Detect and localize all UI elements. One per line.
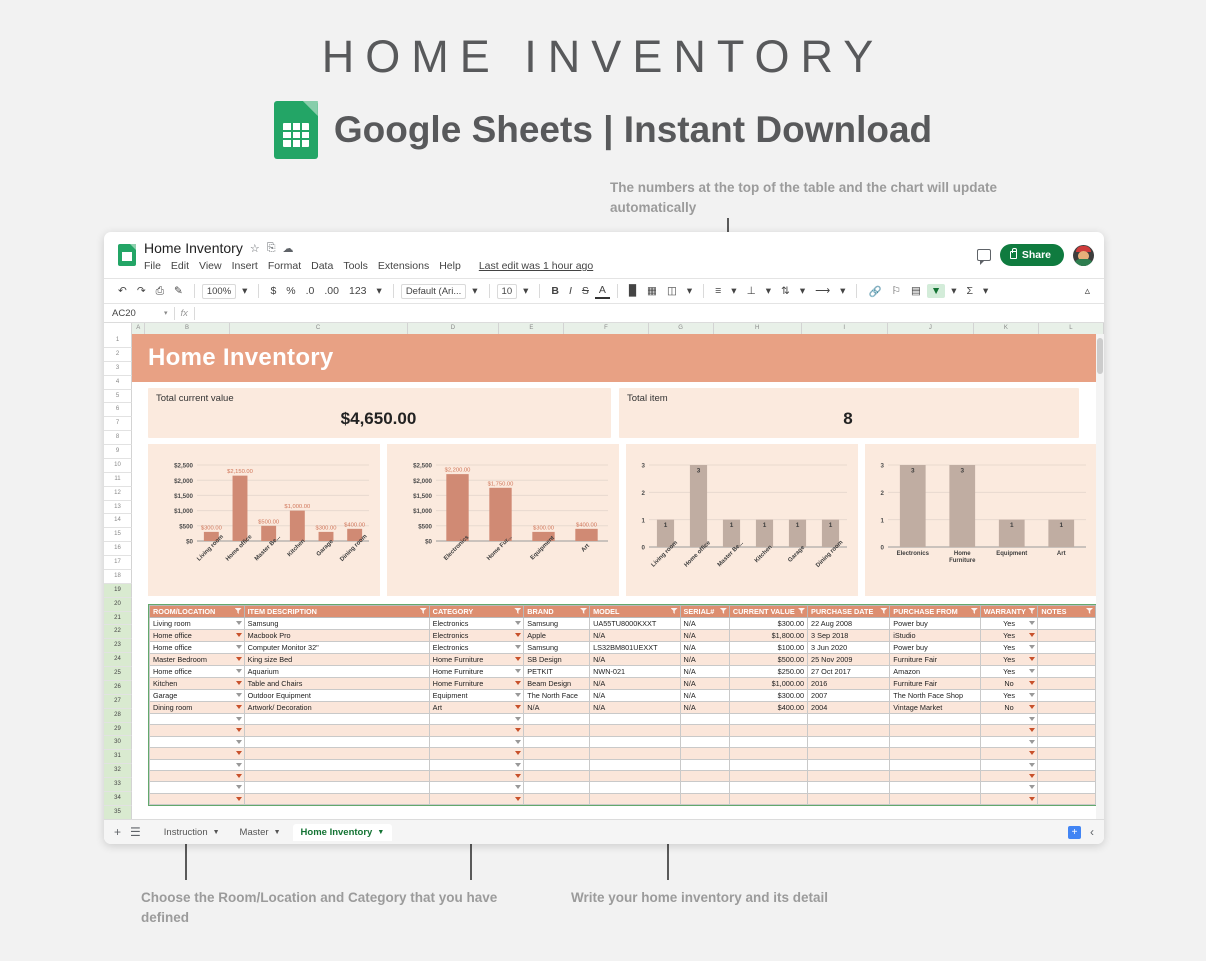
chevron-left-icon[interactable]: ‹ (1090, 825, 1094, 839)
row-header-1[interactable]: 1 (104, 334, 132, 348)
cell-notes[interactable] (1038, 702, 1096, 714)
cell-room-location[interactable]: Home office (150, 630, 245, 642)
cell-empty[interactable] (429, 770, 524, 781)
chevron-down-icon[interactable]: ▼ (377, 829, 384, 836)
cell-empty[interactable] (808, 770, 890, 781)
dropdown-chevron-down-icon[interactable] (236, 633, 242, 637)
column-header-g[interactable]: G (649, 323, 714, 334)
cell-empty[interactable] (729, 725, 807, 736)
cell-notes[interactable] (1038, 678, 1096, 690)
cell-room-location[interactable]: Home office (150, 666, 245, 678)
cell-warranty[interactable]: Yes (980, 630, 1038, 642)
column-header-l[interactable]: L (1039, 323, 1104, 334)
column-header-h[interactable]: H (714, 323, 802, 334)
cell-model[interactable]: N/A (590, 702, 680, 714)
menu-view[interactable]: View (199, 260, 222, 272)
dropdown-chevron-down-icon[interactable] (1029, 633, 1035, 637)
table-header-purchase-date[interactable]: PURCHASE DATE (808, 606, 890, 618)
name-box[interactable]: AC20 (104, 308, 164, 319)
cell-category[interactable]: Electronics (429, 630, 524, 642)
table-row[interactable] (150, 782, 1096, 793)
row-header-30[interactable]: 30 (104, 736, 132, 750)
cell-empty[interactable] (808, 782, 890, 793)
cell-empty[interactable] (244, 770, 429, 781)
filter-icon[interactable]: ▼ (927, 284, 945, 298)
cell-empty[interactable] (808, 736, 890, 747)
cell-notes[interactable] (1038, 654, 1096, 666)
cell-empty[interactable] (429, 782, 524, 793)
cell-empty[interactable] (680, 782, 729, 793)
dropdown-chevron-down-icon[interactable] (515, 621, 521, 625)
cell-serial[interactable]: N/A (680, 702, 729, 714)
row-header-31[interactable]: 31 (104, 750, 132, 764)
filter-icon[interactable] (798, 608, 805, 614)
cell-item-description[interactable]: Aquarium (244, 666, 429, 678)
cell-empty[interactable] (980, 759, 1038, 770)
menu-data[interactable]: Data (311, 260, 333, 272)
cell-warranty[interactable]: Yes (980, 618, 1038, 630)
cell-empty[interactable] (808, 748, 890, 759)
table-row[interactable]: GarageOutdoor EquipmentEquipmentThe Nort… (150, 690, 1096, 702)
cell-empty[interactable] (590, 748, 680, 759)
dropdown-chevron-down-icon[interactable] (515, 693, 521, 697)
cell-empty[interactable] (680, 748, 729, 759)
cell-empty[interactable] (590, 714, 680, 725)
dropdown-chevron-down-icon[interactable] (1029, 728, 1035, 732)
dropdown-chevron-down-icon[interactable] (515, 728, 521, 732)
cell-empty[interactable] (1038, 736, 1096, 747)
chevron-down-icon[interactable]: ▼ (274, 829, 281, 836)
cell-empty[interactable] (680, 736, 729, 747)
cell-purchase-from[interactable]: Amazon (890, 666, 980, 678)
table-header-brand[interactable]: BRAND (524, 606, 590, 618)
cell-brand[interactable]: PETKIT (524, 666, 590, 678)
cell-room-location[interactable]: Garage (150, 690, 245, 702)
table-header-category[interactable]: CATEGORY (429, 606, 524, 618)
cell-empty[interactable] (980, 748, 1038, 759)
dropdown-chevron-down-icon[interactable] (515, 705, 521, 709)
insert-chart-icon[interactable]: ▤ (907, 284, 925, 298)
cell-empty[interactable] (980, 793, 1038, 804)
formats-chevron-down-icon[interactable]: ▾ (373, 284, 386, 298)
cell-empty[interactable] (1038, 793, 1096, 804)
table-row[interactable] (150, 793, 1096, 804)
cell-serial[interactable]: N/A (680, 630, 729, 642)
cell-category[interactable]: Home Furniture (429, 666, 524, 678)
more-formats-button[interactable]: 123 (345, 284, 371, 298)
halign-chevron-down-icon[interactable]: ▾ (727, 284, 740, 298)
cell-empty[interactable] (890, 793, 980, 804)
dropdown-chevron-down-icon[interactable] (1029, 785, 1035, 789)
cell-empty[interactable] (244, 736, 429, 747)
cell-warranty[interactable]: Yes (980, 690, 1038, 702)
cell-empty[interactable] (524, 770, 590, 781)
cell-room-location[interactable]: Home office (150, 642, 245, 654)
cell-empty[interactable] (1038, 714, 1096, 725)
cell-empty[interactable] (590, 759, 680, 770)
row-header-24[interactable]: 24 (104, 653, 132, 667)
add-sheet-icon[interactable]: + (114, 825, 121, 839)
cell-item-description[interactable]: Macbook Pro (244, 630, 429, 642)
dropdown-chevron-down-icon[interactable] (236, 740, 242, 744)
row-header-9[interactable]: 9 (104, 445, 132, 459)
dropdown-chevron-down-icon[interactable] (515, 645, 521, 649)
vertical-align-icon[interactable]: ⊥ (743, 284, 760, 298)
cell-category[interactable]: Electronics (429, 618, 524, 630)
cell-model[interactable]: LS32BM801UEXXT (590, 642, 680, 654)
vertical-scrollbar[interactable] (1096, 334, 1104, 819)
cell-brand[interactable]: SB Design (524, 654, 590, 666)
dropdown-chevron-down-icon[interactable] (236, 751, 242, 755)
wrap-chevron-down-icon[interactable]: ▾ (796, 284, 809, 298)
cell-empty[interactable] (729, 770, 807, 781)
cell-item-description[interactable]: King size Bed (244, 654, 429, 666)
cell-empty[interactable] (150, 759, 245, 770)
decrease-decimal-button[interactable]: .0 (302, 284, 319, 298)
cell-empty[interactable] (244, 714, 429, 725)
filter-icon[interactable] (880, 608, 887, 614)
cell-current-value[interactable]: $1,800.00 (729, 630, 807, 642)
dropdown-chevron-down-icon[interactable] (515, 681, 521, 685)
row-header-27[interactable]: 27 (104, 695, 132, 709)
cell-current-value[interactable]: $100.00 (729, 642, 807, 654)
dropdown-chevron-down-icon[interactable] (236, 705, 242, 709)
cell-empty[interactable] (244, 748, 429, 759)
cell-current-value[interactable]: $300.00 (729, 690, 807, 702)
dropdown-chevron-down-icon[interactable] (1029, 797, 1035, 801)
filter-icon[interactable] (671, 608, 678, 614)
column-header-c[interactable]: C (230, 323, 408, 334)
row-header-34[interactable]: 34 (104, 792, 132, 806)
cell-purchase-date[interactable]: 2016 (808, 678, 890, 690)
cell-purchase-from[interactable]: iStudio (890, 630, 980, 642)
column-header-i[interactable]: I (802, 323, 888, 334)
cell-model[interactable]: N/A (590, 654, 680, 666)
cell-serial[interactable]: N/A (680, 678, 729, 690)
dropdown-chevron-down-icon[interactable] (1029, 774, 1035, 778)
cell-empty[interactable] (590, 725, 680, 736)
cell-empty[interactable] (890, 714, 980, 725)
filter-icon[interactable] (514, 608, 521, 614)
row-header-11[interactable]: 11 (104, 473, 132, 487)
row-header-7[interactable]: 7 (104, 417, 132, 431)
cell-purchase-date[interactable]: 22 Aug 2008 (808, 618, 890, 630)
row-header-32[interactable]: 32 (104, 764, 132, 778)
cell-empty[interactable] (150, 748, 245, 759)
column-header-a[interactable]: A (132, 323, 145, 334)
cell-empty[interactable] (150, 725, 245, 736)
dropdown-chevron-down-icon[interactable] (515, 669, 521, 673)
cell-empty[interactable] (150, 714, 245, 725)
row-header-8[interactable]: 8 (104, 431, 132, 445)
cell-notes[interactable] (1038, 630, 1096, 642)
row-header-14[interactable]: 14 (104, 514, 132, 528)
filter-icon[interactable] (720, 608, 727, 614)
scrollbar-thumb[interactable] (1097, 338, 1103, 374)
cell-room-location[interactable]: Kitchen (150, 678, 245, 690)
dropdown-chevron-down-icon[interactable] (236, 645, 242, 649)
cell-empty[interactable] (429, 714, 524, 725)
row-header-21[interactable]: 21 (104, 612, 132, 626)
row-header-10[interactable]: 10 (104, 459, 132, 473)
cell-empty[interactable] (150, 736, 245, 747)
undo-icon[interactable]: ↶ (114, 284, 131, 298)
row-header-4[interactable]: 4 (104, 376, 132, 390)
currency-format-button[interactable]: $ (266, 284, 280, 298)
cell-empty[interactable] (729, 782, 807, 793)
cell-purchase-from[interactable]: Furniture Fair (890, 654, 980, 666)
cell-purchase-date[interactable]: 3 Jun 2020 (808, 642, 890, 654)
cell-brand[interactable]: The North Face (524, 690, 590, 702)
filter-icon[interactable] (235, 608, 242, 614)
cell-empty[interactable] (1038, 725, 1096, 736)
chart-3[interactable]: 01231Living room3Home office1Master Be..… (626, 444, 858, 596)
cell-purchase-from[interactable]: Vintage Market (890, 702, 980, 714)
dropdown-chevron-down-icon[interactable] (515, 751, 521, 755)
cell-empty[interactable] (729, 759, 807, 770)
filter-icon[interactable] (420, 608, 427, 614)
table-row[interactable]: Home officeAquariumHome FurniturePETKITN… (150, 666, 1096, 678)
valign-chevron-down-icon[interactable]: ▾ (762, 284, 775, 298)
zoom-select[interactable]: 100% (202, 284, 236, 299)
font-size-chevron-down-icon[interactable]: ▾ (519, 284, 532, 298)
cell-notes[interactable] (1038, 642, 1096, 654)
dropdown-chevron-down-icon[interactable] (515, 774, 521, 778)
dropdown-chevron-down-icon[interactable] (236, 693, 242, 697)
menu-tools[interactable]: Tools (343, 260, 368, 272)
table-header-current-value[interactable]: CURRENT VALUE (729, 606, 807, 618)
table-row[interactable]: Dining roomArtwork/ DecorationArtN/AN/AN… (150, 702, 1096, 714)
cell-model[interactable]: N/A (590, 630, 680, 642)
row-header-22[interactable]: 22 (104, 625, 132, 639)
dropdown-chevron-down-icon[interactable] (236, 728, 242, 732)
cell-empty[interactable] (524, 748, 590, 759)
filter-icon[interactable] (580, 608, 587, 614)
column-header-k[interactable]: K (974, 323, 1039, 334)
table-header-room-location[interactable]: ROOM/LOCATION (150, 606, 245, 618)
cell-empty[interactable] (680, 725, 729, 736)
menu-insert[interactable]: Insert (232, 260, 258, 272)
text-wrap-icon[interactable]: ⇅ (777, 284, 794, 298)
text-color-button[interactable]: A (595, 283, 610, 299)
dropdown-chevron-down-icon[interactable] (1029, 717, 1035, 721)
column-header-e[interactable]: E (499, 323, 564, 334)
dropdown-chevron-down-icon[interactable] (515, 657, 521, 661)
cell-warranty[interactable]: Yes (980, 666, 1038, 678)
cell-brand[interactable]: Samsung (524, 618, 590, 630)
cell-serial[interactable]: N/A (680, 690, 729, 702)
dropdown-chevron-down-icon[interactable] (1029, 669, 1035, 673)
cell-empty[interactable] (590, 770, 680, 781)
cell-empty[interactable] (150, 770, 245, 781)
table-row[interactable] (150, 759, 1096, 770)
insert-link-icon[interactable]: 🔗 (864, 284, 885, 299)
cell-model[interactable]: NWN-021 (590, 666, 680, 678)
name-box-chevron-down-icon[interactable]: ▾ (164, 309, 168, 317)
cell-empty[interactable] (680, 793, 729, 804)
cell-model[interactable]: UA55TU8000KXXT (590, 618, 680, 630)
table-row[interactable] (150, 748, 1096, 759)
row-header-35[interactable]: 35 (104, 806, 132, 819)
dropdown-chevron-down-icon[interactable] (236, 785, 242, 789)
row-header-20[interactable]: 20 (104, 598, 132, 612)
redo-icon[interactable]: ↷ (133, 284, 150, 298)
filter-icon[interactable] (1086, 608, 1093, 614)
table-header-warranty[interactable]: WARRANTY (980, 606, 1038, 618)
row-header-19[interactable]: 19 (104, 584, 132, 598)
dropdown-chevron-down-icon[interactable] (1029, 657, 1035, 661)
table-header-notes[interactable]: NOTES (1038, 606, 1096, 618)
row-header-5[interactable]: 5 (104, 390, 132, 404)
row-header-12[interactable]: 12 (104, 487, 132, 501)
italic-button[interactable]: I (565, 284, 576, 298)
cell-empty[interactable] (244, 782, 429, 793)
cell-room-location[interactable]: Living room (150, 618, 245, 630)
cell-warranty[interactable]: No (980, 702, 1038, 714)
font-chevron-down-icon[interactable]: ▾ (468, 284, 481, 298)
row-header-15[interactable]: 15 (104, 528, 132, 542)
dropdown-chevron-down-icon[interactable] (236, 657, 242, 661)
cell-warranty[interactable]: No (980, 678, 1038, 690)
row-header-3[interactable]: 3 (104, 362, 132, 376)
row-header-2[interactable]: 2 (104, 348, 132, 362)
filter-icon[interactable] (971, 608, 978, 614)
cell-brand[interactable]: Samsung (524, 642, 590, 654)
dropdown-chevron-down-icon[interactable] (1029, 621, 1035, 625)
cell-empty[interactable] (890, 770, 980, 781)
cell-category[interactable]: Equipment (429, 690, 524, 702)
row-header-29[interactable]: 29 (104, 723, 132, 737)
row-header-26[interactable]: 26 (104, 681, 132, 695)
dropdown-chevron-down-icon[interactable] (236, 681, 242, 685)
cell-purchase-date[interactable]: 27 Oct 2017 (808, 666, 890, 678)
column-header-f[interactable]: F (564, 323, 648, 334)
cell-empty[interactable] (729, 793, 807, 804)
borders-icon[interactable]: ▦ (643, 284, 661, 298)
cell-purchase-from[interactable]: Furniture Fair (890, 678, 980, 690)
font-size-select[interactable]: 10 (497, 284, 518, 299)
dropdown-chevron-down-icon[interactable] (1029, 763, 1035, 767)
dropdown-chevron-down-icon[interactable] (236, 774, 242, 778)
cell-empty[interactable] (429, 725, 524, 736)
cell-empty[interactable] (590, 736, 680, 747)
text-rotation-icon[interactable]: ⟶ (811, 284, 834, 298)
share-button[interactable]: Share (1000, 244, 1064, 266)
avatar[interactable] (1073, 245, 1094, 266)
cell-empty[interactable] (890, 759, 980, 770)
paint-format-icon[interactable]: ✎ (170, 284, 187, 298)
cell-item-description[interactable]: Outdoor Equipment (244, 690, 429, 702)
dropdown-chevron-down-icon[interactable] (515, 785, 521, 789)
cell-purchase-from[interactable]: Power buy (890, 642, 980, 654)
cell-empty[interactable] (244, 725, 429, 736)
insert-comment-icon[interactable]: ⚐ (888, 284, 905, 298)
cell-purchase-date[interactable]: 2004 (808, 702, 890, 714)
cell-empty[interactable] (808, 793, 890, 804)
cell-empty[interactable] (680, 770, 729, 781)
cell-empty[interactable] (980, 782, 1038, 793)
cell-empty[interactable] (890, 725, 980, 736)
cell-room-location[interactable]: Master Bedroom (150, 654, 245, 666)
cell-empty[interactable] (1038, 748, 1096, 759)
table-row[interactable]: Master BedroomKing size BedHome Furnitur… (150, 654, 1096, 666)
cell-notes[interactable] (1038, 618, 1096, 630)
dropdown-chevron-down-icon[interactable] (1029, 693, 1035, 697)
merge-chevron-down-icon[interactable]: ▾ (683, 284, 696, 298)
percent-format-button[interactable]: % (282, 284, 299, 298)
cell-purchase-date[interactable]: 3 Sep 2018 (808, 630, 890, 642)
cell-current-value[interactable]: $300.00 (729, 618, 807, 630)
cell-notes[interactable] (1038, 666, 1096, 678)
cell-empty[interactable] (524, 736, 590, 747)
zoom-chevron-down-icon[interactable]: ▾ (238, 284, 251, 298)
chevron-down-icon[interactable]: ▼ (213, 829, 220, 836)
increase-decimal-button[interactable]: .00 (320, 284, 343, 298)
dropdown-chevron-down-icon[interactable] (1029, 751, 1035, 755)
sheet-tab-home-inventory[interactable]: Home Inventory▼ (293, 824, 393, 841)
cell-empty[interactable] (680, 759, 729, 770)
cloud-saved-icon[interactable]: ☁ (283, 242, 294, 255)
menu-file[interactable]: File (144, 260, 161, 272)
table-header-item-description[interactable]: ITEM DESCRIPTION (244, 606, 429, 618)
cell-empty[interactable] (808, 759, 890, 770)
cell-current-value[interactable]: $250.00 (729, 666, 807, 678)
cell-category[interactable]: Electronics (429, 642, 524, 654)
cell-empty[interactable] (524, 759, 590, 770)
row-header-18[interactable]: 18 (104, 570, 132, 584)
cell-empty[interactable] (890, 748, 980, 759)
cell-purchase-from[interactable]: The North Face Shop (890, 690, 980, 702)
cell-empty[interactable] (244, 793, 429, 804)
fill-color-icon[interactable]: ▉ (625, 284, 641, 298)
table-row[interactable] (150, 714, 1096, 725)
cell-serial[interactable]: N/A (680, 666, 729, 678)
collapse-toolbar-icon[interactable]: ▵ (1081, 284, 1094, 298)
cell-brand[interactable]: Beam Design (524, 678, 590, 690)
cell-empty[interactable] (980, 736, 1038, 747)
filter-icon[interactable] (1028, 608, 1035, 614)
strikethrough-button[interactable]: S (578, 284, 593, 298)
cell-warranty[interactable]: Yes (980, 654, 1038, 666)
cell-empty[interactable] (524, 782, 590, 793)
dropdown-chevron-down-icon[interactable] (1029, 645, 1035, 649)
dropdown-chevron-down-icon[interactable] (236, 717, 242, 721)
menu-extensions[interactable]: Extensions (378, 260, 429, 272)
dropdown-chevron-down-icon[interactable] (1029, 740, 1035, 744)
print-icon[interactable]: ⎙ (152, 284, 168, 299)
cell-empty[interactable] (590, 793, 680, 804)
cell-current-value[interactable]: $500.00 (729, 654, 807, 666)
table-row[interactable]: KitchenTable and ChairsHome FurnitureBea… (150, 678, 1096, 690)
dropdown-chevron-down-icon[interactable] (1029, 681, 1035, 685)
cell-empty[interactable] (680, 714, 729, 725)
menu-format[interactable]: Format (268, 260, 301, 272)
cell-empty[interactable] (150, 793, 245, 804)
sheet-tab-instruction[interactable]: Instruction▼ (156, 824, 228, 841)
doc-title[interactable]: Home Inventory (144, 240, 243, 256)
cell-empty[interactable] (729, 714, 807, 725)
star-icon[interactable]: ☆ (250, 242, 260, 255)
cell-empty[interactable] (980, 714, 1038, 725)
column-header-d[interactable]: D (408, 323, 500, 334)
bold-button[interactable]: B (547, 284, 563, 298)
functions-chevron-down-icon[interactable]: ▾ (979, 284, 992, 298)
all-sheets-icon[interactable]: ☰ (130, 825, 141, 839)
cell-item-description[interactable]: Table and Chairs (244, 678, 429, 690)
cell-empty[interactable] (429, 793, 524, 804)
cell-model[interactable]: N/A (590, 690, 680, 702)
cell-current-value[interactable]: $400.00 (729, 702, 807, 714)
